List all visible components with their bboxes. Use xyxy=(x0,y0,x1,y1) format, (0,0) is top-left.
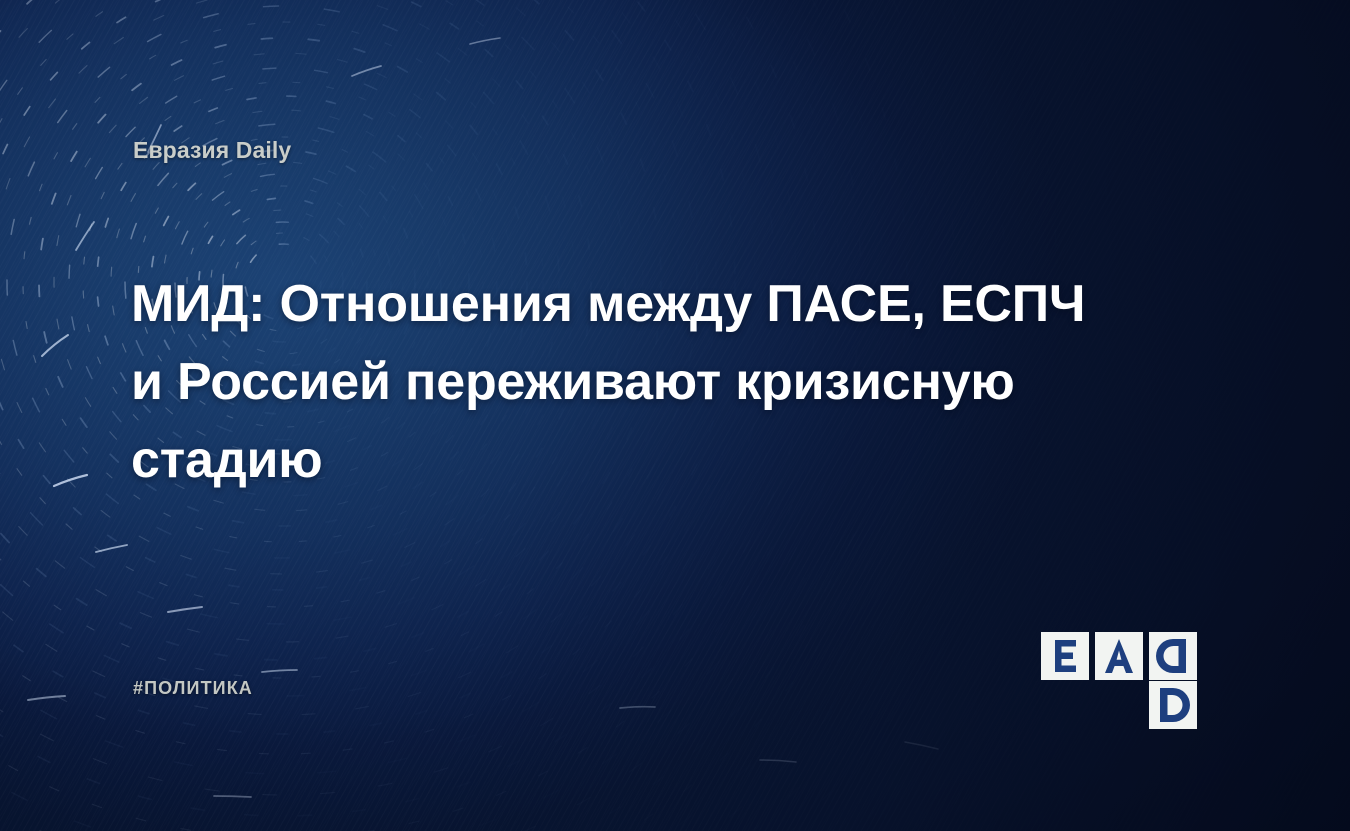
logo-tile-d-rotated xyxy=(1149,632,1197,680)
page-title: МИД: Отношения между ПАСЕ, ЕСПЧ и Россие… xyxy=(131,265,1171,499)
logo-tile-a xyxy=(1095,632,1143,680)
brand-name: Евразия Daily xyxy=(133,137,291,164)
headline-line-3: стадию xyxy=(131,421,1171,499)
category-hashtag[interactable]: #ПОЛИТИКА xyxy=(133,678,253,699)
logo-tile-column-d xyxy=(1149,632,1197,729)
logo-tile-d xyxy=(1149,681,1197,729)
headline-line-2: и Россией переживают кризисную xyxy=(131,343,1171,421)
news-share-card: Евразия Daily МИД: Отношения между ПАСЕ,… xyxy=(0,0,1350,831)
card-content: Евразия Daily МИД: Отношения между ПАСЕ,… xyxy=(0,0,1350,831)
logo-tile-e xyxy=(1041,632,1089,680)
headline-line-1: МИД: Отношения между ПАСЕ, ЕСПЧ xyxy=(131,265,1171,343)
ead-logo[interactable] xyxy=(1041,632,1197,728)
